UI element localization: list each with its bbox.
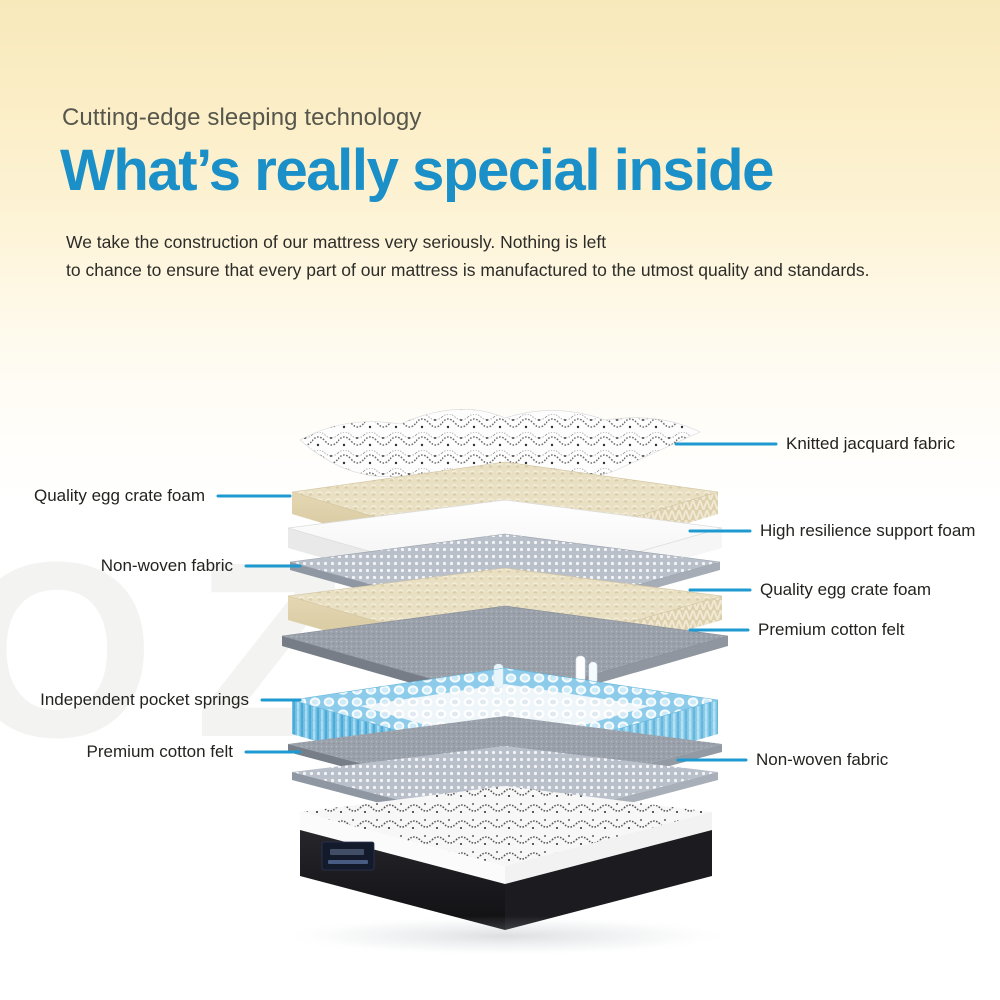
label-knitted-jacquard-fabric: Knitted jacquard fabric — [786, 434, 955, 454]
kicker-text: Cutting-edge sleeping technology — [62, 104, 421, 132]
label-high-resilience-support-foam: High resilience support foam — [760, 521, 975, 541]
layer-finished-mattress — [275, 786, 735, 956]
page-title: What’s really special inside — [60, 140, 773, 202]
intro-line-2: to chance to ensure that every part of o… — [66, 256, 926, 284]
label-premium-cotton-felt-top: Premium cotton felt — [758, 620, 904, 640]
intro-line-1: We take the construction of our mattress… — [66, 228, 926, 256]
label-premium-cotton-felt-bottom: Premium cotton felt — [87, 742, 233, 762]
infographic-page: OZ Cutting-edge sleeping technology What… — [0, 0, 1000, 1000]
label-quality-egg-crate-foam-top: Quality egg crate foam — [34, 486, 205, 506]
label-quality-egg-crate-foam-bottom: Quality egg crate foam — [760, 580, 931, 600]
intro-paragraph: We take the construction of our mattress… — [66, 228, 926, 284]
mattress-brand-badge — [322, 842, 374, 870]
label-independent-pocket-springs: Independent pocket springs — [40, 690, 249, 710]
label-non-woven-fabric-top: Non-woven fabric — [101, 556, 233, 576]
label-non-woven-fabric-bottom: Non-woven fabric — [756, 750, 888, 770]
